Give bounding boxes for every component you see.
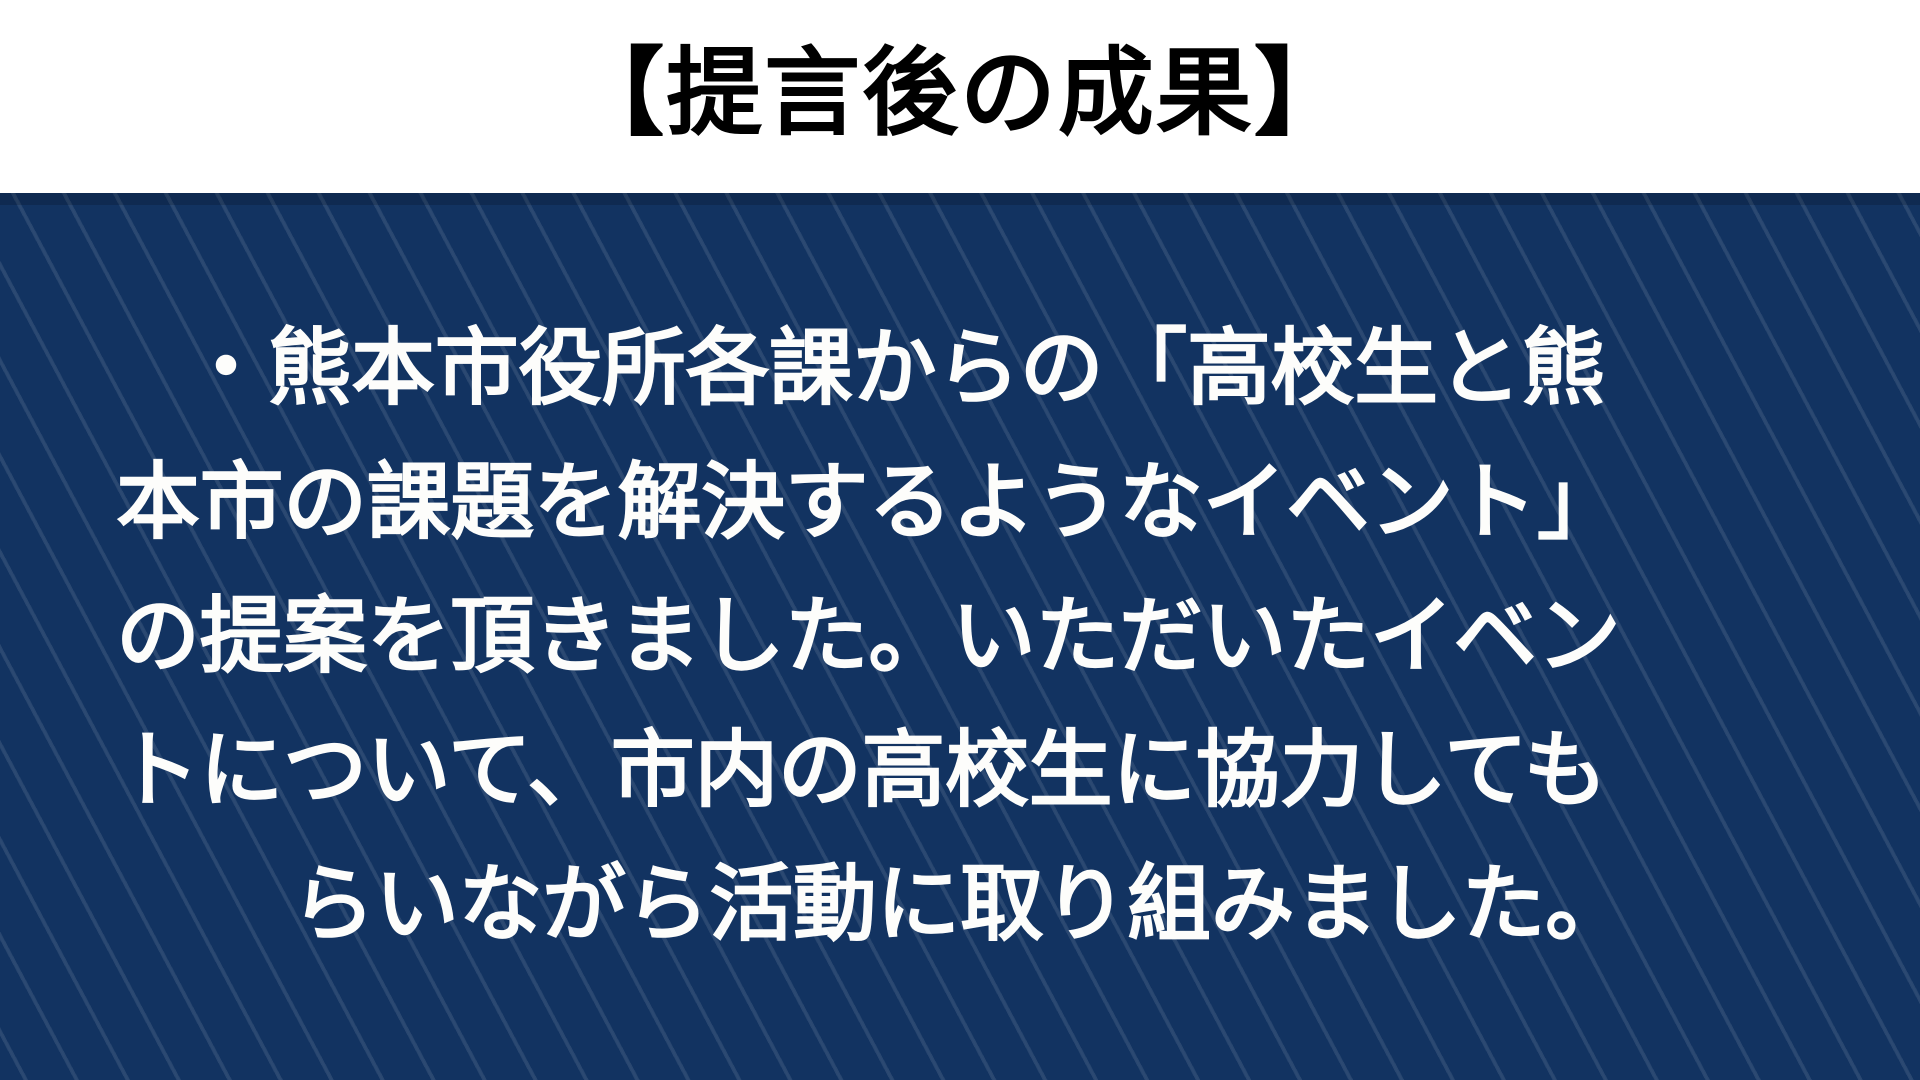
body-text-block: ・熊本市役所各課からの「高校生と熊 本市の課題を解決するようなイベント」 の提案…: [100, 301, 1820, 971]
page-title: 【提言後の成果】: [568, 45, 1351, 149]
slide-content-panel: ・熊本市役所各課からの「高校生と熊 本市の課題を解決するようなイベント」 の提案…: [0, 193, 1920, 1080]
body-line: の提案を頂きました。いただいたイベン: [100, 569, 1820, 703]
body-line: ・熊本市役所各課からの「高校生と熊: [100, 301, 1820, 435]
slide-title-band: 【提言後の成果】: [0, 0, 1920, 193]
panel-top-shade: [0, 193, 1920, 205]
presentation-slide: 【提言後の成果】 ・熊本市役所各課からの「高校生と熊 本市の課題を解決するような…: [0, 0, 1920, 1080]
body-line: トについて、市内の高校生に協力しても: [100, 703, 1820, 837]
body-line: 本市の課題を解決するようなイベント」: [100, 435, 1820, 569]
body-line: らいながら活動に取り組みました。: [100, 837, 1820, 971]
